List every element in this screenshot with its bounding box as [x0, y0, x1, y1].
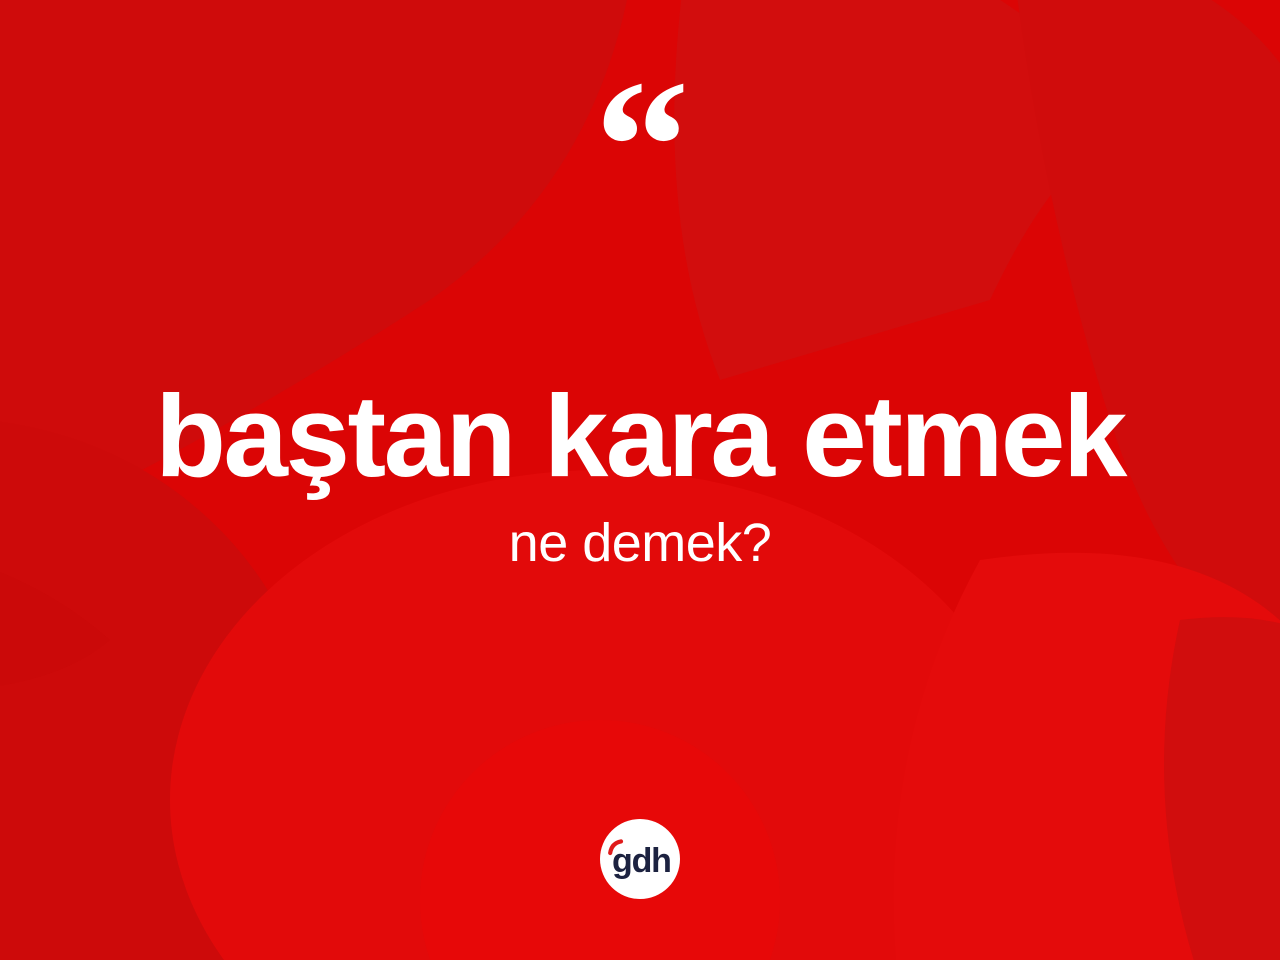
page-title: baştan kara etmek	[40, 378, 1240, 494]
gdh-wordmark: gdh	[612, 842, 671, 879]
headline-block: baştan kara etmek ne demek?	[0, 378, 1280, 570]
gdh-logo-icon: gdh	[607, 839, 673, 879]
gdh-logo-badge[interactable]: gdh	[600, 819, 680, 899]
card-content: “ baştan kara etmek ne demek? gdh	[0, 0, 1280, 960]
quote-card: “ baştan kara etmek ne demek? gdh	[0, 0, 1280, 960]
page-subtitle: ne demek?	[40, 516, 1240, 570]
left-double-quotation-mark-icon: “	[0, 52, 1280, 242]
